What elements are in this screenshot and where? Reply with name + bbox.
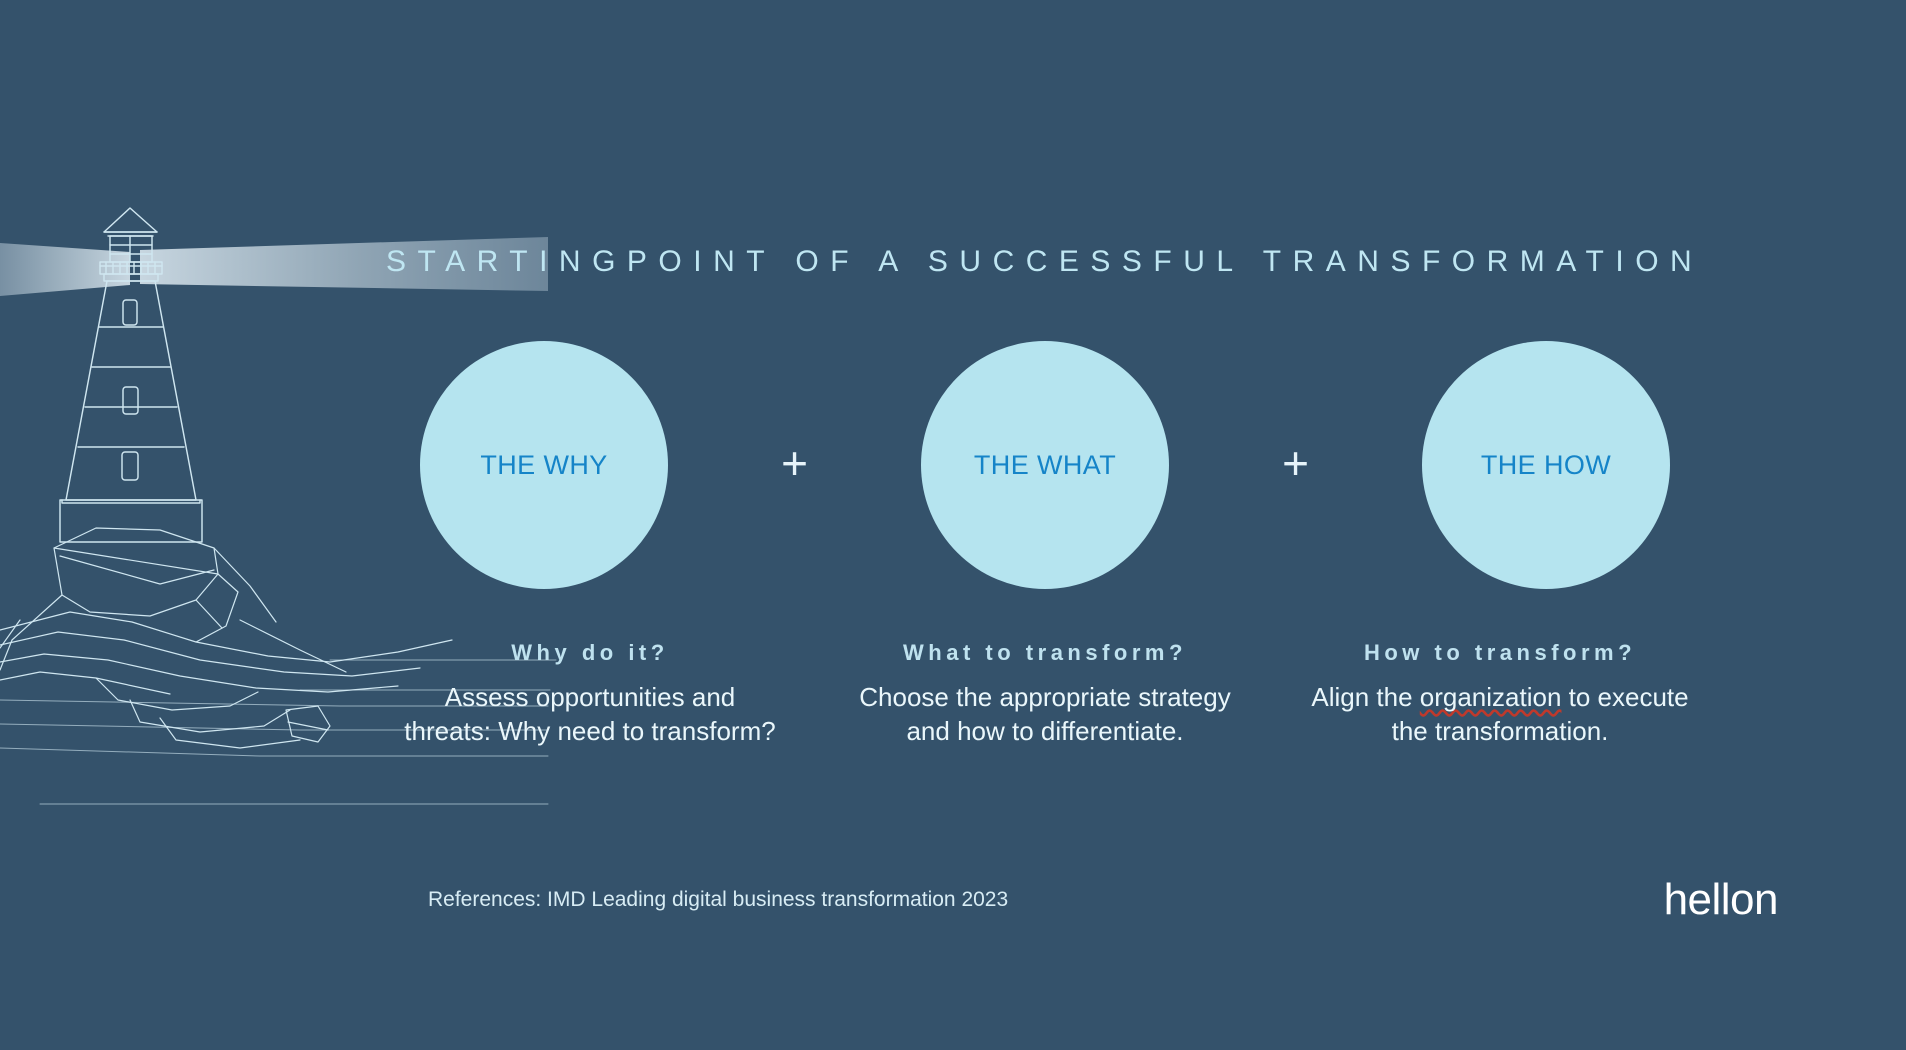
lighthouse-tower: [66, 281, 196, 500]
lighthouse-gallery: [100, 262, 162, 281]
bubble-label: THE WHY: [480, 450, 607, 481]
spellcheck-flagged-word: organization: [1420, 682, 1562, 712]
light-beam-left: [0, 243, 130, 296]
bubble-the-why[interactable]: THE WHY: [420, 341, 668, 589]
lighthouse-base: [60, 500, 202, 542]
caption-body: Choose the appropriate strategy and how …: [855, 680, 1235, 749]
bubble-label: THE HOW: [1481, 450, 1611, 481]
plus-icon: +: [781, 440, 808, 490]
caption-how: How to transform? Align the organization…: [1310, 640, 1690, 749]
caption-why: Why do it? Assess opportunities and thre…: [400, 640, 780, 749]
caption-heading: Why do it?: [400, 640, 780, 666]
lighthouse-lantern: [110, 236, 152, 262]
slide-canvas: STARTINGPOINT OF A SUCCESSFUL TRANSFORMA…: [0, 0, 1906, 1050]
rock-formation: [0, 528, 452, 748]
caption-heading: How to transform?: [1310, 640, 1690, 666]
caption-body-text: Choose the appropriate strategy and how …: [859, 682, 1230, 746]
caption-body: Assess opportunities and threats: Why ne…: [400, 680, 780, 749]
plus-icon: +: [1282, 440, 1309, 490]
bubble-label: THE WHAT: [974, 450, 1116, 481]
caption-body-text: Assess opportunities and threats: Why ne…: [404, 682, 775, 746]
caption-row: Why do it? Assess opportunities and thre…: [400, 640, 1690, 749]
page-title: STARTINGPOINT OF A SUCCESSFUL TRANSFORMA…: [386, 245, 1703, 279]
caption-what: What to transform? Choose the appropriat…: [855, 640, 1235, 749]
hellon-logo: hellon: [1664, 878, 1778, 922]
concept-bubble-row: THE WHY + THE WHAT + THE HOW: [420, 340, 1670, 590]
caption-body-text: Align the: [1311, 682, 1419, 712]
references-note: References: IMD Leading digital business…: [428, 888, 1008, 912]
bubble-the-what[interactable]: THE WHAT: [921, 341, 1169, 589]
caption-body: Align the organization to execute the tr…: [1310, 680, 1690, 749]
bubble-the-how[interactable]: THE HOW: [1422, 341, 1670, 589]
lighthouse-roof: [104, 208, 157, 236]
caption-heading: What to transform?: [855, 640, 1235, 666]
